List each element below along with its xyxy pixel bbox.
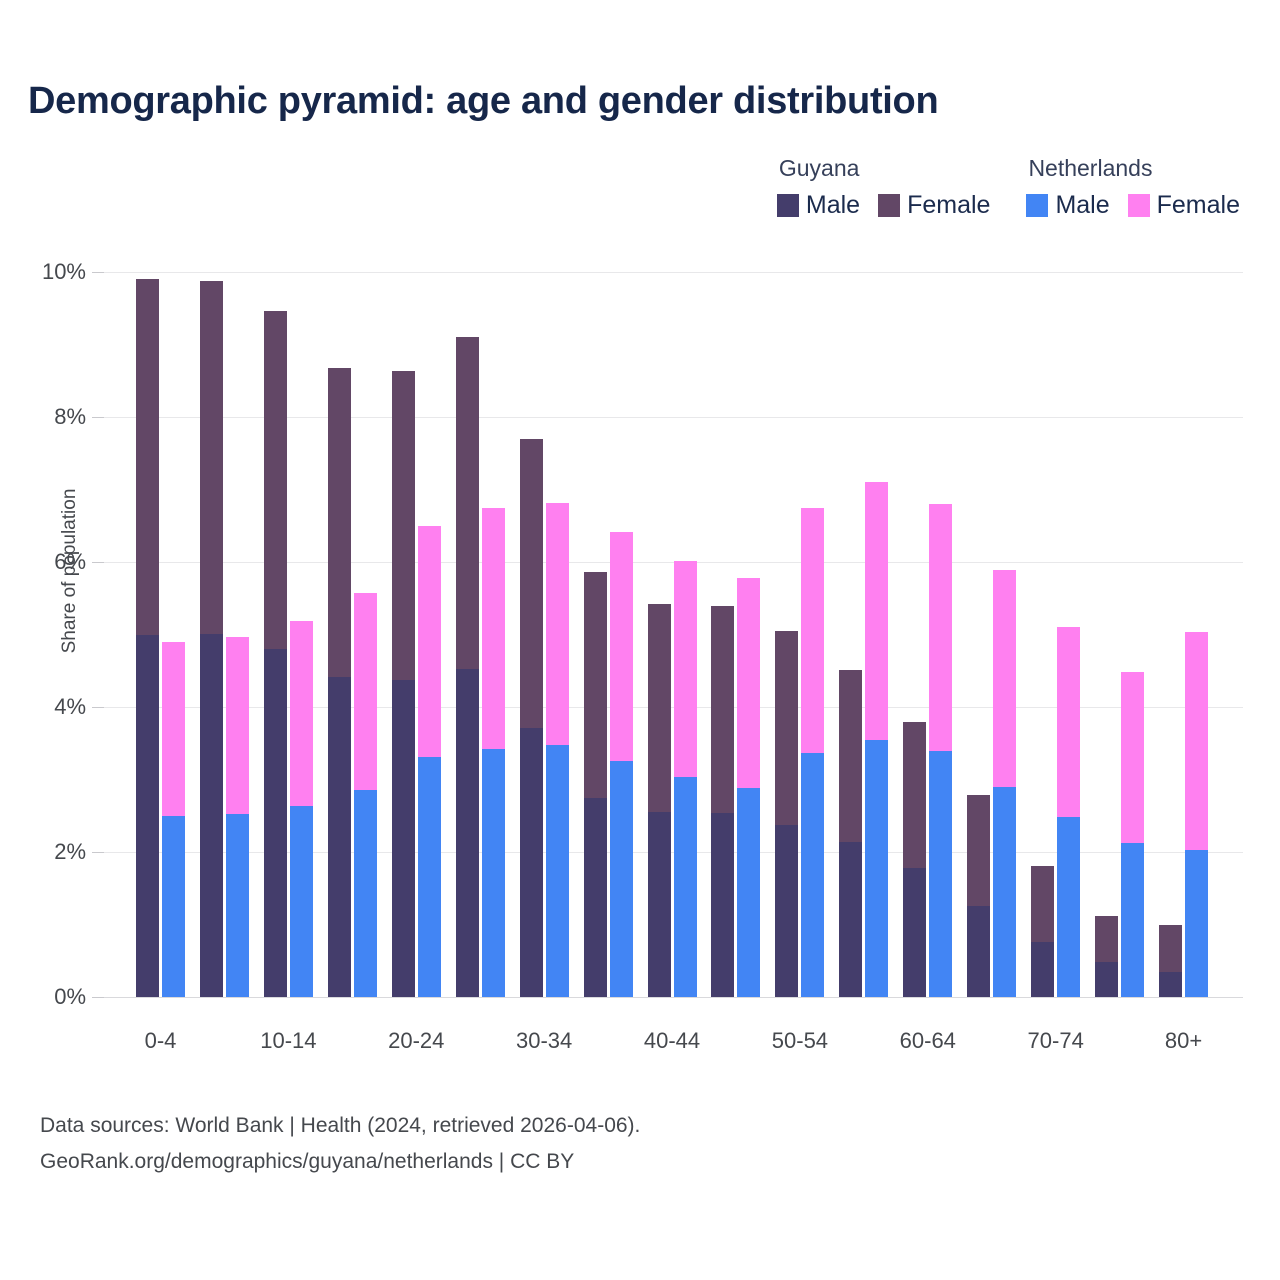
- bar-netherlands[interactable]: [801, 508, 824, 997]
- bar-guyana[interactable]: [711, 606, 734, 998]
- bar-segment-female: [610, 532, 633, 762]
- x-axis-tick-label: 50-54: [772, 1028, 828, 1054]
- bar-netherlands[interactable]: [290, 621, 313, 997]
- bar-guyana[interactable]: [136, 279, 159, 997]
- bar-netherlands[interactable]: [737, 578, 760, 997]
- bar-segment-male: [1095, 962, 1118, 997]
- chart-root: Demographic pyramid: age and gender dist…: [0, 0, 1280, 1280]
- bar-guyana[interactable]: [1095, 916, 1118, 997]
- bar-segment-male: [967, 906, 990, 997]
- bar-segment-female: [162, 642, 185, 816]
- bar-segment-male: [903, 868, 926, 997]
- bar-segment-male: [482, 749, 505, 997]
- bar-segment-male: [328, 677, 351, 997]
- bar-netherlands[interactable]: [226, 637, 249, 997]
- bar-segment-female: [1031, 866, 1054, 942]
- bar-segment-female: [993, 570, 1016, 788]
- bar-segment-female: [967, 795, 990, 906]
- plot-area: Share of population 0%2%4%6%8%10% 0-410-…: [0, 0, 1280, 1280]
- bar-guyana[interactable]: [584, 572, 607, 997]
- x-axis-tick-label: 0-4: [145, 1028, 177, 1054]
- bar-segment-female: [903, 722, 926, 868]
- bar-segment-female: [546, 503, 569, 746]
- bar-segment-male: [711, 813, 734, 997]
- bar-segment-male: [1159, 972, 1182, 997]
- x-axis-tick-label: 30-34: [516, 1028, 572, 1054]
- bar-guyana[interactable]: [200, 281, 223, 997]
- bar-segment-female: [775, 631, 798, 825]
- bar-segment-male: [993, 787, 1016, 997]
- bar-guyana[interactable]: [1031, 866, 1054, 997]
- bar-segment-male: [264, 649, 287, 997]
- bar-netherlands[interactable]: [929, 504, 952, 997]
- bar-segment-female: [1095, 916, 1118, 962]
- bar-segment-male: [162, 816, 185, 997]
- bar-segment-female: [648, 604, 671, 812]
- x-axis-tick-label: 20-24: [388, 1028, 444, 1054]
- bar-segment-male: [610, 761, 633, 997]
- bar-segment-female: [418, 526, 441, 757]
- bar-segment-male: [290, 806, 313, 997]
- bar-netherlands[interactable]: [674, 561, 697, 997]
- bar-guyana[interactable]: [328, 368, 351, 997]
- bar-guyana[interactable]: [264, 311, 287, 997]
- x-axis-tick-label: 40-44: [644, 1028, 700, 1054]
- bar-segment-male: [584, 798, 607, 997]
- bar-segment-male: [1185, 850, 1208, 997]
- bar-segment-female: [328, 368, 351, 676]
- bar-segment-male: [136, 635, 159, 998]
- bar-segment-female: [584, 572, 607, 797]
- x-axis-tick-label: 60-64: [900, 1028, 956, 1054]
- bar-segment-male: [418, 757, 441, 997]
- bar-segment-male: [200, 634, 223, 997]
- bar-netherlands[interactable]: [865, 482, 888, 997]
- bar-segment-female: [839, 670, 862, 842]
- bar-guyana[interactable]: [775, 631, 798, 997]
- bar-netherlands[interactable]: [1057, 627, 1080, 997]
- footer-line-attribution: GeoRank.org/demographics/guyana/netherla…: [40, 1144, 640, 1180]
- bar-netherlands[interactable]: [993, 570, 1016, 997]
- bar-netherlands[interactable]: [610, 532, 633, 997]
- bar-segment-male: [929, 751, 952, 997]
- bar-segment-male: [456, 669, 479, 997]
- bar-segment-female: [482, 508, 505, 749]
- bar-segment-female: [392, 371, 415, 680]
- bar-segment-male: [1031, 942, 1054, 997]
- bar-segment-female: [674, 561, 697, 777]
- bar-segment-male: [865, 740, 888, 997]
- bar-segment-male: [392, 680, 415, 997]
- bar-netherlands[interactable]: [162, 642, 185, 997]
- bar-segment-male: [546, 745, 569, 997]
- bar-segment-female: [1121, 672, 1144, 844]
- bar-segment-female: [1185, 632, 1208, 850]
- bar-segment-female: [1057, 627, 1080, 818]
- bar-guyana[interactable]: [839, 670, 862, 997]
- bar-guyana[interactable]: [648, 604, 671, 997]
- bar-segment-female: [711, 606, 734, 813]
- bar-segment-female: [136, 279, 159, 634]
- footer-line-sources: Data sources: World Bank | Health (2024,…: [40, 1108, 640, 1144]
- bar-segment-female: [354, 593, 377, 790]
- bar-netherlands[interactable]: [418, 526, 441, 997]
- bar-segment-female: [226, 637, 249, 813]
- bar-guyana[interactable]: [967, 795, 990, 997]
- x-axis-tick-label: 80+: [1165, 1028, 1202, 1054]
- bar-netherlands[interactable]: [1121, 671, 1144, 997]
- bars-layer: [0, 0, 1280, 1280]
- bar-netherlands[interactable]: [482, 508, 505, 997]
- bar-segment-male: [648, 812, 671, 997]
- bar-segment-male: [674, 777, 697, 997]
- bar-netherlands[interactable]: [546, 503, 569, 997]
- bar-guyana[interactable]: [903, 722, 926, 998]
- bar-guyana[interactable]: [520, 439, 543, 997]
- bar-segment-male: [354, 790, 377, 997]
- bar-segment-male: [226, 814, 249, 997]
- bar-segment-female: [520, 439, 543, 728]
- chart-footer: Data sources: World Bank | Health (2024,…: [40, 1108, 640, 1180]
- bar-segment-female: [865, 482, 888, 740]
- bar-netherlands[interactable]: [354, 593, 377, 997]
- bar-guyana[interactable]: [1159, 925, 1182, 998]
- bar-segment-male: [775, 825, 798, 997]
- bar-segment-male: [801, 753, 824, 997]
- bar-segment-female: [737, 578, 760, 788]
- bar-segment-male: [1057, 817, 1080, 997]
- bar-segment-female: [290, 621, 313, 805]
- bar-segment-male: [839, 842, 862, 997]
- bar-segment-male: [520, 728, 543, 997]
- bar-segment-female: [200, 281, 223, 633]
- bar-segment-female: [456, 337, 479, 669]
- bar-segment-female: [1159, 925, 1182, 972]
- bar-segment-male: [1121, 843, 1144, 997]
- bar-segment-female: [801, 508, 824, 754]
- bar-segment-male: [737, 788, 760, 997]
- bar-netherlands[interactable]: [1185, 632, 1208, 997]
- bar-segment-female: [264, 311, 287, 649]
- bar-guyana[interactable]: [392, 371, 415, 997]
- x-axis-tick-label: 70-74: [1028, 1028, 1084, 1054]
- x-axis-tick-label: 10-14: [260, 1028, 316, 1054]
- bar-guyana[interactable]: [456, 337, 479, 997]
- bar-segment-female: [929, 504, 952, 751]
